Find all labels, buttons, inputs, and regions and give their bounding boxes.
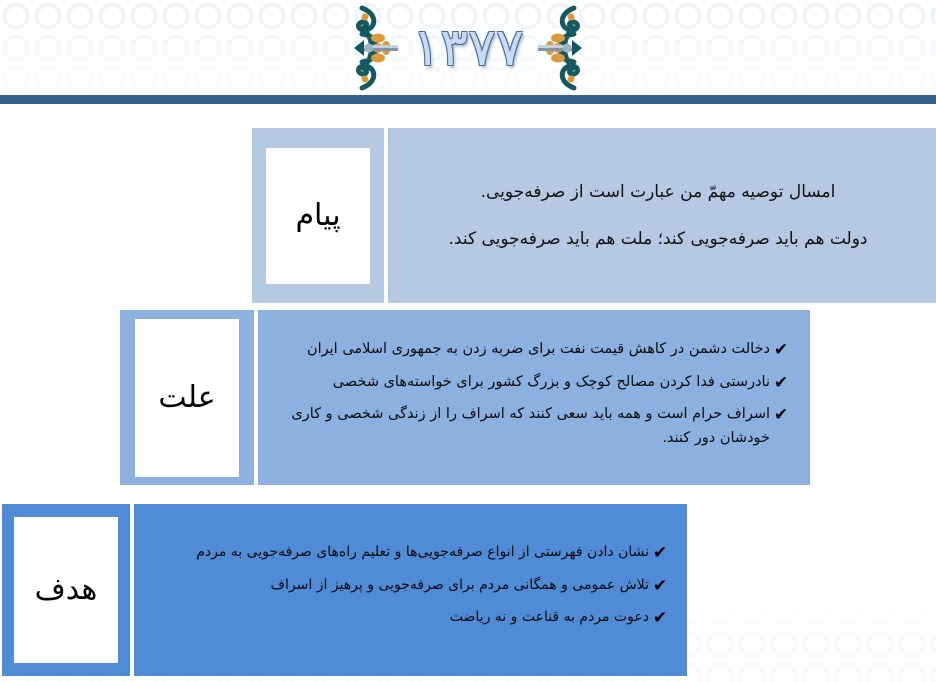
list-item: ✔ اسراف حرام است و همه باید سعی کنند که … [268,403,792,450]
slide-canvas: ۱۳۷۷ [0,0,936,682]
checkmark-icon: ✔ [649,606,671,632]
list-item-label: دعوت مردم به قناعت و نه ریاضت [144,606,649,629]
checkmark-icon: ✔ [770,338,792,364]
list-item: ✔ دخالت دشمن در کاهش قیمت نفت برای ضربه … [268,338,792,364]
arabesque-ornament-icon-right [342,4,398,92]
section-cause: ✔ دخالت دشمن در کاهش قیمت نفت برای ضربه … [120,310,810,485]
goal-bullet-list: ✔ نشان دادن فهرستی از انواع صرفه‌جویی‌ها… [144,541,671,639]
section-cause-label: علت [158,383,215,413]
section-goal-label-box: هدف [14,517,118,663]
list-item-label: دخالت دشمن در کاهش قیمت نفت برای ضربه زد… [268,338,770,361]
checkmark-icon: ✔ [770,371,792,397]
list-item-label: نشان دادن فهرستی از انواع صرفه‌جویی‌ها و… [144,541,649,564]
section-message: امسال توصیه مهمّ من عبارت است از صرفه‌جو… [252,128,936,303]
checkmark-icon: ✔ [649,574,671,600]
list-item-label: اسراف حرام است و همه باید سعی کنند که اس… [268,403,770,450]
list-item-label: تلاش عمومی و همگانی مردم برای صرفه‌جویی … [144,574,649,597]
checkmark-icon: ✔ [770,403,792,429]
cause-bullet-list: ✔ دخالت دشمن در کاهش قیمت نفت برای ضربه … [268,338,792,457]
section-goal-body: ✔ نشان دادن فهرستی از انواع صرفه‌جویی‌ها… [134,504,687,676]
slide-header: ۱۳۷۷ [0,0,936,104]
section-message-label-cell: پیام [252,128,388,303]
arabesque-ornament-icon-left [538,4,594,92]
list-item: ✔ نشان دادن فهرستی از انواع صرفه‌جویی‌ها… [144,541,671,567]
header-year-title: ۱۳۷۷ [408,22,528,74]
message-line: دولت هم باید صرفه‌جویی کند؛ ملت هم باید … [406,226,910,252]
section-goal-label: هدف [35,575,98,605]
section-goal-label-cell: هدف [2,504,134,676]
section-cause-body: ✔ دخالت دشمن در کاهش قیمت نفت برای ضربه … [258,310,810,485]
section-message-body: امسال توصیه مهمّ من عبارت است از صرفه‌جو… [388,128,936,303]
section-cause-label-cell: علت [120,310,258,485]
list-item-label: نادرستی فدا کردن مصالح کوچک و بزرگ کشور … [268,371,770,394]
list-item: ✔ تلاش عمومی و همگانی مردم برای صرفه‌جوی… [144,574,671,600]
section-message-label: پیام [295,201,340,231]
header-divider-rule [0,95,936,104]
section-goal: ✔ نشان دادن فهرستی از انواع صرفه‌جویی‌ها… [2,504,687,676]
section-message-label-box: پیام [266,148,370,284]
list-item: ✔ دعوت مردم به قناعت و نه ریاضت [144,606,671,632]
header-title-group: ۱۳۷۷ [0,0,936,96]
message-line: امسال توصیه مهمّ من عبارت است از صرفه‌جو… [406,179,910,205]
list-item: ✔ نادرستی فدا کردن مصالح کوچک و بزرگ کشو… [268,371,792,397]
checkmark-icon: ✔ [649,541,671,567]
section-cause-label-box: علت [135,319,239,477]
